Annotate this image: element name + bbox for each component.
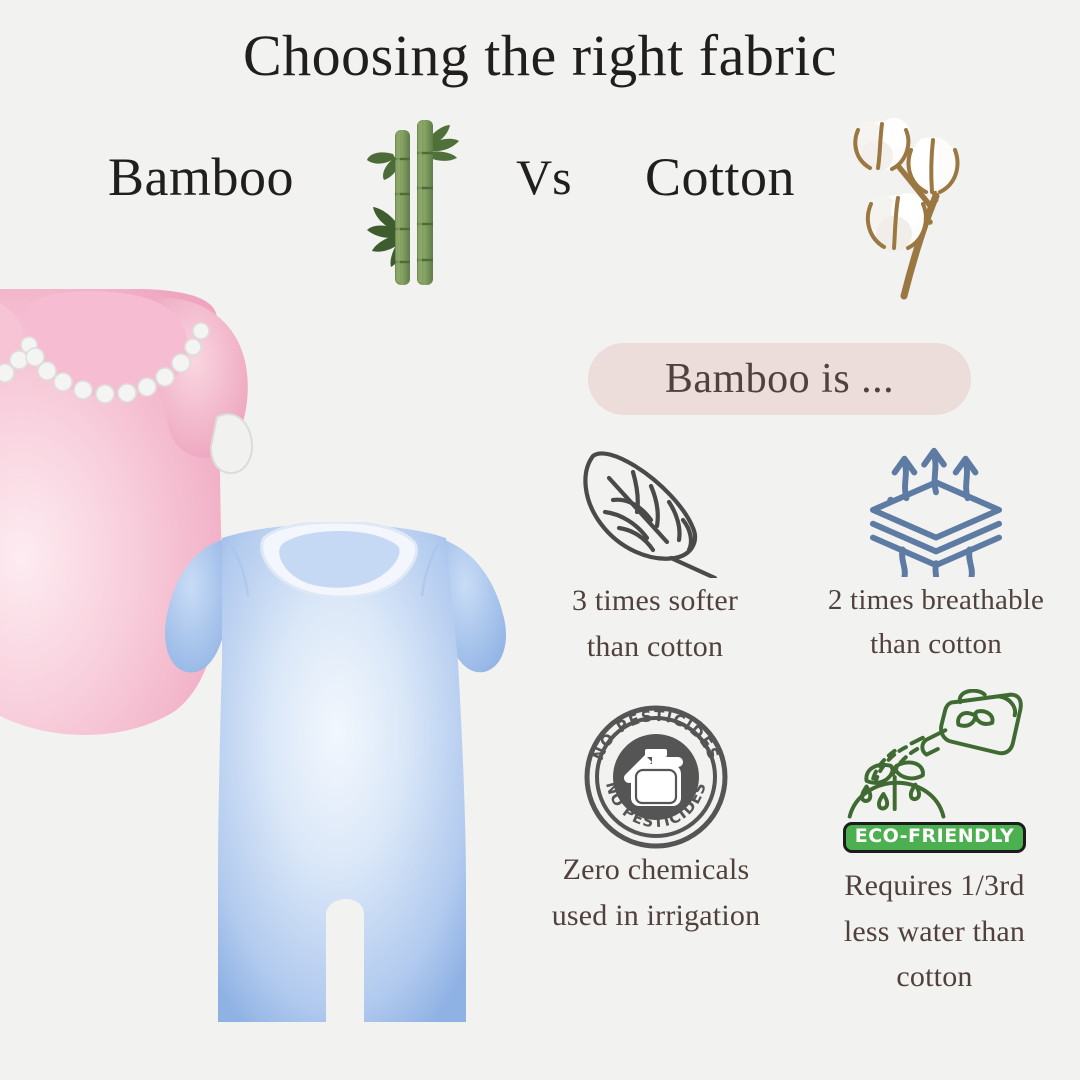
feature-breathability-label: 2 times breathable than cotton (792, 578, 1080, 666)
versus-label: Vs (516, 148, 572, 206)
infographic-canvas: Choosing the right fabric Bamboo Vs Cott… (0, 0, 1080, 1080)
feature-softness-label: 3 times softer than cotton (530, 578, 780, 669)
eco-friendly-badge: ECO-FRIENDLY (843, 822, 1027, 853)
no-pesticides-badge-icon: NO PESTICIDES NO PESTICIDES (520, 707, 792, 847)
blue-baby-romper (160, 522, 530, 1040)
page-title: Choosing the right fabric (0, 22, 1080, 89)
breathable-layers-icon (792, 438, 1080, 578)
features-grid: 3 times softer than cotton (520, 432, 1080, 1052)
feature-no-chemicals-label: Zero chemicals used in irrigation (520, 847, 792, 938)
feature-softness: 3 times softer than cotton (530, 438, 780, 669)
bamboo-is-badge: Bamboo is ... (588, 343, 971, 415)
feather-icon (530, 438, 780, 578)
cotton-branch-icon (832, 104, 1052, 314)
feature-water-saving-label: Requires 1/3rd less water than cotton (802, 863, 1067, 1000)
badge-label: Bamboo is ... (665, 355, 894, 403)
bamboo-stalks-icon (355, 112, 475, 287)
feature-no-chemicals: NO PESTICIDES NO PESTICIDES (520, 707, 792, 938)
feature-water-saving: ECO-FRIENDLY Requires 1/3rd less water t… (802, 694, 1067, 1000)
bamboo-label: Bamboo (108, 146, 294, 208)
feature-breathability: 2 times breathable than cotton (792, 438, 1080, 666)
cotton-label: Cotton (645, 146, 795, 208)
watering-can-eco-icon (802, 694, 1067, 834)
